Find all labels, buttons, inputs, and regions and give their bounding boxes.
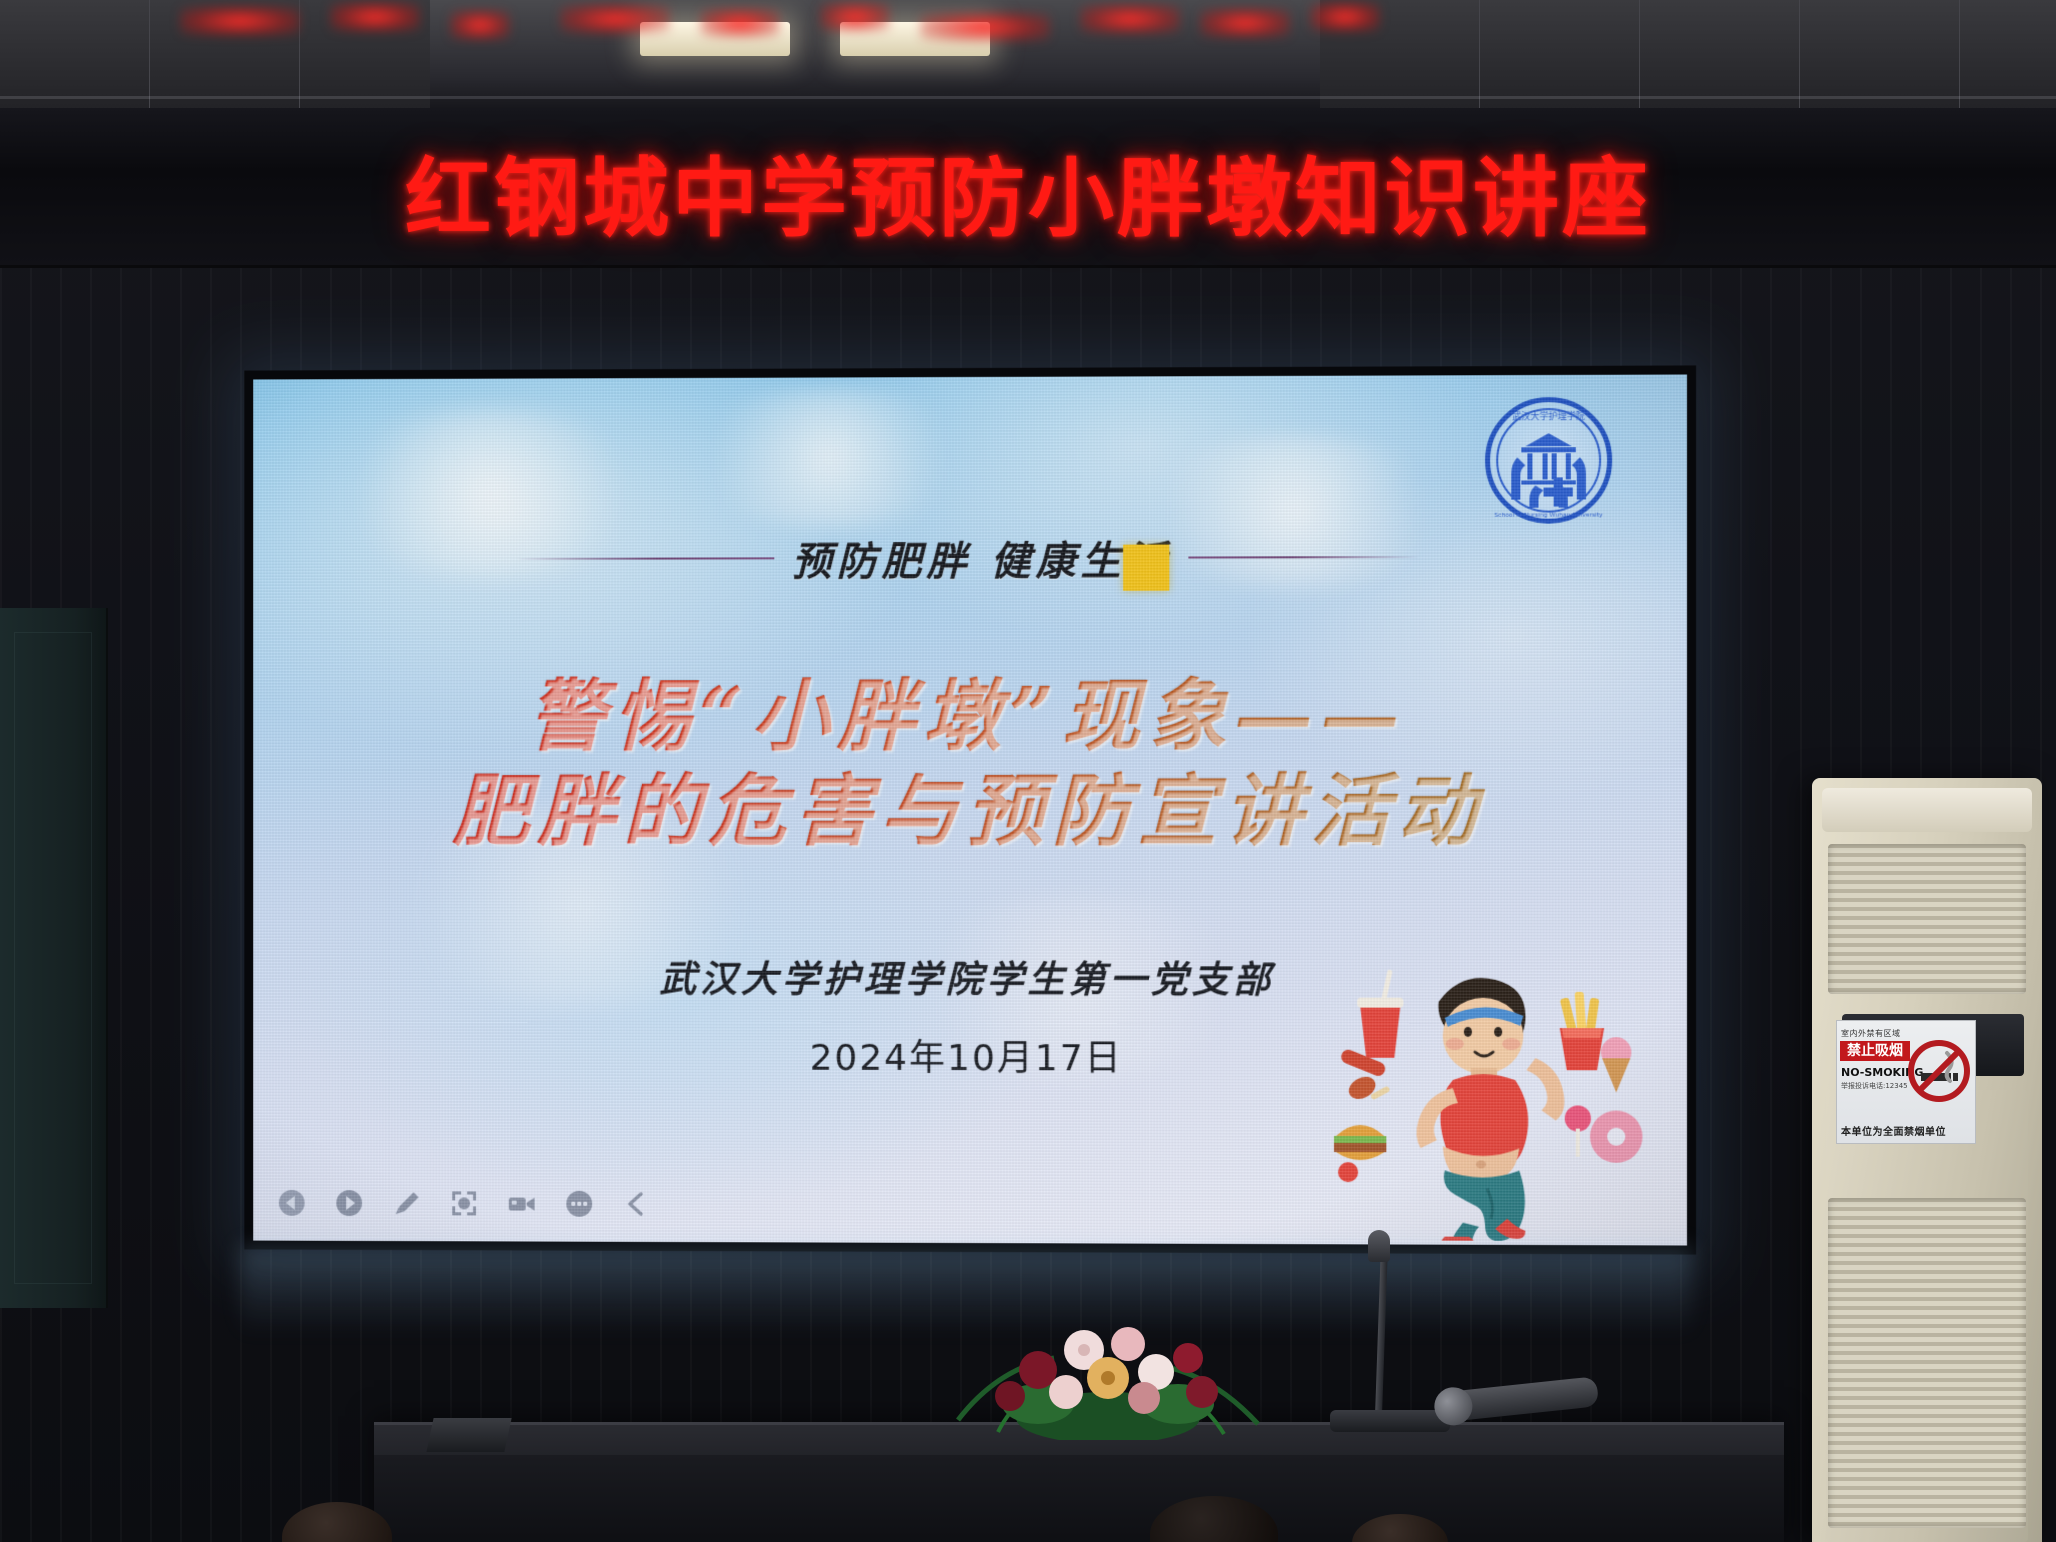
microphone-base: [1330, 1410, 1450, 1432]
character: [1416, 978, 1564, 1241]
previous-slide-icon[interactable]: [277, 1188, 307, 1218]
side-door: [0, 608, 108, 1308]
podium-table: [374, 1422, 1784, 1542]
ceiling: [0, 0, 2056, 120]
ac-grille-top: [1828, 844, 2026, 994]
air-conditioner-unit: 室内外禁有区域 禁止吸烟 NO-SMOKING 举报投诉电话:12345 本单位…: [1812, 778, 2042, 1542]
subtitle-rule-left: [515, 557, 774, 560]
collapse-chevron-icon[interactable]: [622, 1189, 652, 1219]
pen-icon[interactable]: [392, 1188, 422, 1218]
slide-title-line-1: 警惕“小胖墩”现象——: [253, 668, 1687, 764]
presenter-toolbar[interactable]: [277, 1183, 652, 1224]
obese-child-illustration: [1326, 939, 1659, 1241]
name-plate: [426, 1418, 511, 1452]
svg-text:武汉大学护理学院: 武汉大学护理学院: [1512, 410, 1585, 422]
more-options-icon[interactable]: [564, 1189, 594, 1219]
lecture-hall-photo: 红钢城中学预防小胖墩知识讲座: [0, 0, 2056, 1542]
accent-square: [1123, 545, 1169, 591]
svg-text:School of Nursing Wuhan Unive: School of Nursing Wuhan University: [1494, 511, 1603, 518]
flower-arrangement: [938, 1300, 1278, 1440]
logo-emblem-icon: 武汉大学护理学院 School of Nursing Wuhan Univers…: [1485, 397, 1612, 524]
subtitle-rule-right: [1189, 556, 1420, 558]
projection-screen-frame: 武汉大学护理学院 School of Nursing Wuhan Univers…: [244, 365, 1696, 1254]
no-smoking-small: 举报投诉电话:12345: [1841, 1081, 1908, 1091]
no-smoking-band: 禁止吸烟: [1840, 1041, 1910, 1061]
slide-title-line-2: 肥胖的危害与预防宣讲活动: [253, 764, 1687, 860]
slide-title-block: 警惕“小胖墩”现象—— 肥胖的危害与预防宣讲活动: [253, 668, 1687, 859]
next-slide-icon[interactable]: [334, 1188, 364, 1218]
ac-grille-bottom: [1828, 1198, 2026, 1528]
no-smoking-symbol-icon: [1907, 1039, 1971, 1103]
slide-subtitle-row: 预防肥胖 健康生活: [253, 527, 1687, 588]
led-banner-text: 红钢城中学预防小胖墩知识讲座: [405, 128, 1651, 253]
led-banner: 红钢城中学预防小胖墩知识讲座: [0, 108, 2056, 268]
no-smoking-footer: 本单位为全面禁烟单位: [1841, 1123, 1946, 1138]
projection-screen: 武汉大学护理学院 School of Nursing Wuhan Univers…: [253, 375, 1687, 1246]
no-smoking-line1: 室内外禁有区域: [1841, 1028, 1901, 1039]
nursing-school-logo: 武汉大学护理学院 School of Nursing Wuhan Univers…: [1485, 397, 1612, 524]
no-smoking-sign: 室内外禁有区域 禁止吸烟 NO-SMOKING 举报投诉电话:12345 本单位…: [1836, 1020, 1976, 1144]
laser-pointer-icon[interactable]: [449, 1188, 479, 1218]
screen-record-icon[interactable]: [507, 1189, 537, 1219]
microphone-head: [1368, 1230, 1390, 1262]
